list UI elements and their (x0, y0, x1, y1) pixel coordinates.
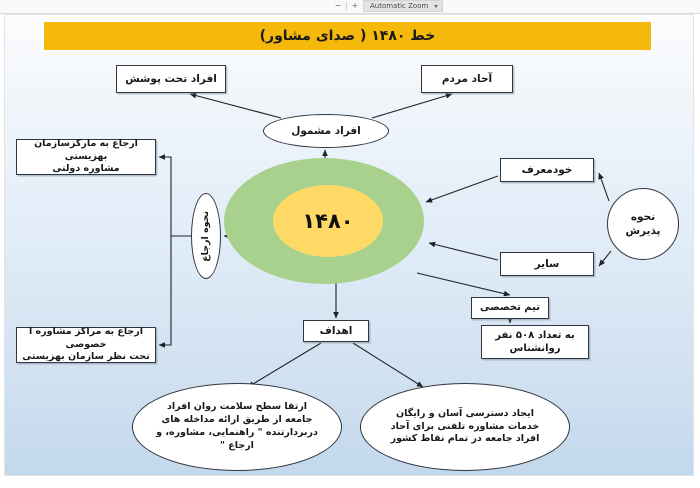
zoom-out-button[interactable]: − (334, 2, 342, 11)
node-general-public: آحاد مردم (421, 65, 513, 93)
node-government-counseling-center-line1: ارجاع به مارکزسازمان بهزیستی (20, 138, 152, 164)
pdf-viewer-toolbar: − + Automatic Zoom (0, 0, 700, 14)
center-number-label: ۱۴۸۰ (302, 209, 353, 233)
chevron-down-icon (434, 5, 438, 8)
node-staff-count-line2: روانشناس (495, 342, 575, 356)
node-specialist-team: تیم تخصصی (471, 297, 549, 319)
node-goal-mental-health-line3: دربردارتنده " راهنمایی، مشاوره، و ارجاع … (147, 427, 327, 453)
node-goals: اهداف (303, 320, 369, 342)
node-goal-accessibility-line2: خدمات مشاوره تلفنی برای آحاد (391, 421, 540, 434)
zoom-level-select[interactable]: Automatic Zoom (363, 0, 443, 12)
node-goal-accessibility-line1: ایجاد دسترسی آسان و رایگان (391, 408, 540, 421)
node-referral-method: نحوه ارجاع (191, 193, 221, 279)
node-referral-method-label: نحوه ارجاع (200, 211, 213, 262)
node-private-counseling-center: ارجاع به مراکز مشاوره ا خصوصی تحت نظر سا… (16, 327, 156, 363)
node-covered-people: افراد تحت پوشش (116, 65, 226, 93)
pdf-page: خط ۱۴۸۰ ( صدای مشاور) افراد تحت پوشش آحا… (4, 14, 694, 476)
inner-ellipse-shape: ۱۴۸۰ (273, 185, 383, 257)
node-goal-mental-health-line2: جامعه از طریق ارائه مداخله های (147, 414, 327, 427)
node-included-people: افراد مشمول (263, 114, 389, 148)
node-government-counseling-center-line2: مشاوره دولتی (20, 163, 152, 176)
node-private-counseling-center-line1: ارجاع به مراکز مشاوره ا خصوصی (20, 326, 152, 352)
zoom-controls: − + Automatic Zoom (334, 0, 443, 12)
node-other: سایر (500, 252, 594, 276)
node-admission-method-line1: نحوه (626, 210, 661, 224)
node-staff-count: به تعداد ۵۰۸ نفر روانشناس (481, 325, 589, 359)
node-private-counseling-center-line2: تحت نظر سازمان بهزیستی (20, 351, 152, 364)
node-staff-count-line1: به تعداد ۵۰۸ نفر (495, 329, 575, 343)
toolbar-divider (346, 2, 347, 10)
node-admission-method-line2: پذیرش (626, 224, 661, 238)
node-goal-mental-health-line1: ارتقا سطح سلامت روان افراد (147, 401, 327, 414)
node-admission-method: نحوه پذیرش (607, 188, 679, 260)
node-government-counseling-center: ارجاع به مارکزسازمان بهزیستی مشاوره دولت… (16, 139, 156, 175)
node-self-introduced: خودمعرف (500, 158, 594, 182)
zoom-level-label: Automatic Zoom (370, 2, 428, 10)
diagram-title: خط ۱۴۸۰ ( صدای مشاور) (44, 22, 651, 50)
node-goal-mental-health: ارتقا سطح سلامت روان افراد جامعه از طریق… (132, 383, 342, 471)
node-goal-accessibility-line3: افراد جامعه در تمام نقاط کشور (391, 433, 540, 446)
zoom-in-button[interactable]: + (351, 2, 359, 11)
node-goal-accessibility: ایجاد دسترسی آسان و رایگان خدمات مشاوره … (360, 383, 570, 471)
